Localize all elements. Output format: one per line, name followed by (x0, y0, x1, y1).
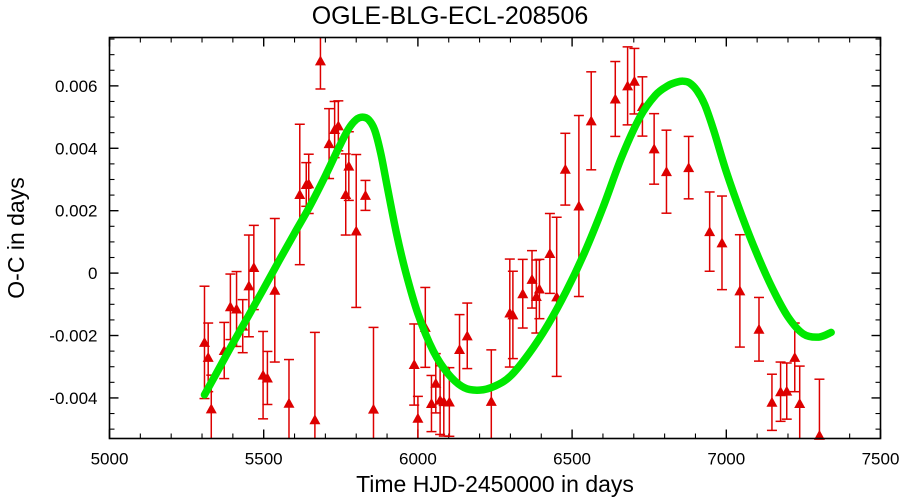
data-point-marker (269, 285, 280, 295)
data-point-marker (351, 225, 362, 235)
oc-diagram-chart: 500055006000650070007500-0.004-0.00200.0… (0, 0, 900, 500)
data-point-marker (409, 359, 420, 369)
data-point-marker (343, 161, 354, 171)
data-point-marker (766, 397, 777, 407)
y-tick-label: 0.006 (55, 77, 98, 96)
data-point-marker (704, 226, 715, 236)
x-tick-label: 6000 (399, 450, 437, 469)
x-tick-label: 5000 (91, 450, 129, 469)
data-markers-layer (199, 55, 825, 439)
error-bar (368, 327, 378, 438)
error-bar (814, 379, 824, 438)
data-point-marker (294, 189, 305, 199)
data-point-marker (683, 162, 694, 172)
y-tick-label: 0.004 (55, 139, 98, 158)
data-point-marker (412, 413, 423, 423)
data-point-marker (534, 284, 545, 294)
y-tick-label: 0.002 (55, 202, 98, 221)
x-tick-label: 7500 (862, 450, 900, 469)
y-tick-label: -0.004 (49, 389, 97, 408)
x-tick-label: 7000 (707, 450, 745, 469)
data-point-marker (544, 248, 555, 258)
data-point-marker (360, 190, 371, 200)
data-point-marker (248, 262, 259, 272)
data-point-marker (243, 280, 254, 290)
data-point-marker (789, 352, 800, 362)
data-point-marker (206, 403, 217, 413)
data-point-marker (315, 55, 326, 65)
data-point-marker (573, 201, 584, 211)
data-point-marker (283, 398, 294, 408)
data-point-marker (309, 414, 320, 424)
data-point-marker (324, 138, 335, 148)
data-point-marker (517, 288, 528, 298)
chart-page: OGLE-BLG-ECL-208506 50005500600065007000… (0, 0, 900, 500)
data-point-marker (716, 237, 727, 247)
data-point-marker (734, 285, 745, 295)
data-point-marker (649, 143, 660, 153)
data-point-marker (340, 189, 351, 199)
data-point-marker (610, 93, 621, 103)
data-point-marker (753, 324, 764, 334)
data-point-marker (661, 166, 672, 176)
x-axis-title: Time HJD-2450000 in days (356, 471, 634, 497)
data-point-marker (586, 115, 597, 125)
data-point-marker (368, 404, 379, 414)
data-point-marker (454, 344, 465, 354)
y-tick-label: 0 (88, 264, 97, 283)
x-tick-label: 5500 (245, 450, 283, 469)
axis-labels-layer: 500055006000650070007500-0.004-0.00200.0… (3, 77, 899, 497)
data-point-marker (462, 330, 473, 340)
y-axis-title: O-C in days (3, 177, 29, 298)
x-tick-label: 6500 (553, 450, 591, 469)
error-bar (486, 350, 496, 439)
y-tick-label: -0.002 (49, 327, 97, 346)
data-point-marker (794, 398, 805, 408)
data-point-marker (560, 164, 571, 174)
data-point-marker (486, 396, 497, 406)
